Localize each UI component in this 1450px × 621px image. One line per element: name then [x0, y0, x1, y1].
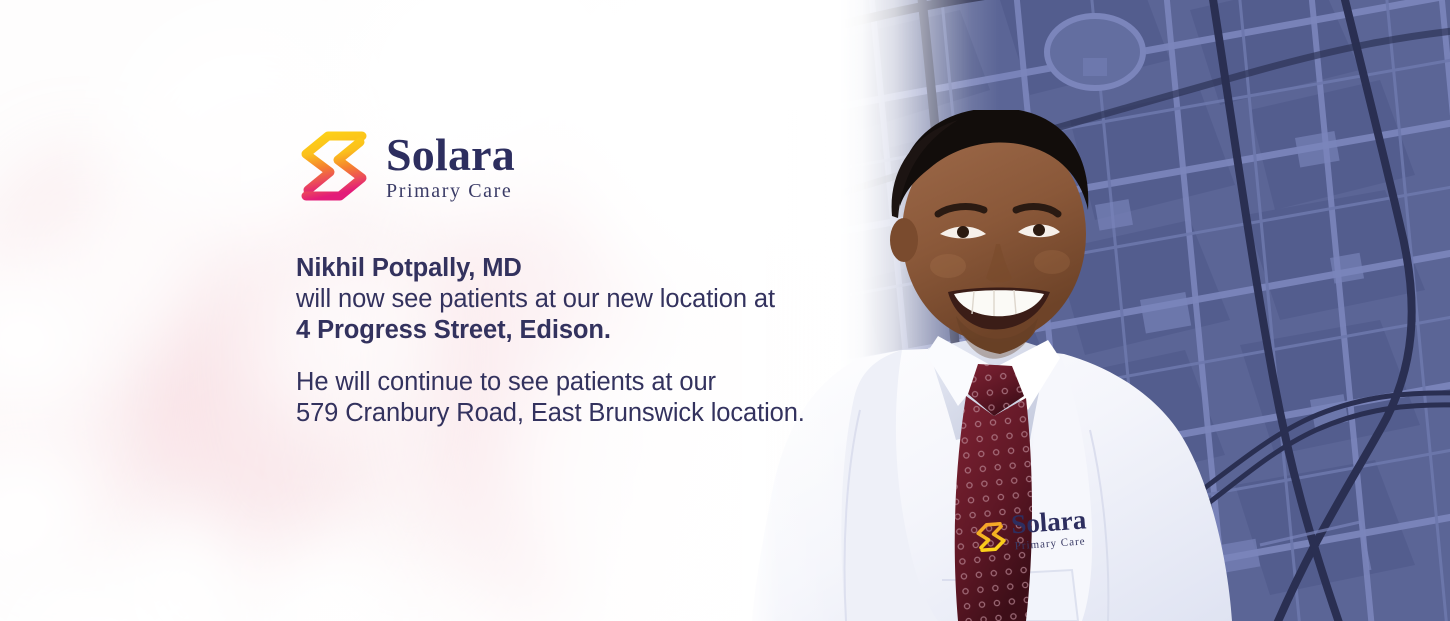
solara-interlocking-s-icon: [296, 122, 372, 210]
announcement-banner: Solara Primary Care S: [0, 0, 1450, 621]
coat-logo-tagline: Primary Care: [1014, 536, 1086, 552]
necktie: [955, 364, 1032, 621]
solara-logo[interactable]: Solara Primary Care: [296, 122, 515, 210]
map-roundabout: [1047, 16, 1143, 88]
coat-embroidered-logo: Solara Primary Care: [972, 504, 1095, 566]
announcement-paragraph-2: He will continue to see patients at our …: [296, 367, 836, 429]
solara-wordmark: Solara Primary Care: [386, 132, 515, 201]
announcement-copy: Nikhil Potpally, MD will now see patient…: [296, 253, 836, 429]
existing-location-address-line: 579 Cranbury Road, East Brunswick locati…: [296, 398, 836, 429]
solara-interlocking-s-icon: [973, 516, 1010, 558]
doctor-head: [890, 110, 1088, 359]
existing-location-intro-line: He will continue to see patients at our: [296, 367, 836, 398]
brand-tagline: Primary Care: [386, 181, 515, 201]
new-location-address-line: 4 Progress Street, Edison.: [296, 315, 836, 346]
new-location-intro-line: will now see patients at our new locatio…: [296, 284, 836, 315]
brand-name: Solara: [386, 132, 515, 178]
doctor-name-line: Nikhil Potpally, MD: [296, 253, 836, 284]
announcement-paragraph-1: Nikhil Potpally, MD will now see patient…: [296, 253, 836, 346]
coat-logo-wordmark: Solara: [1010, 506, 1087, 538]
